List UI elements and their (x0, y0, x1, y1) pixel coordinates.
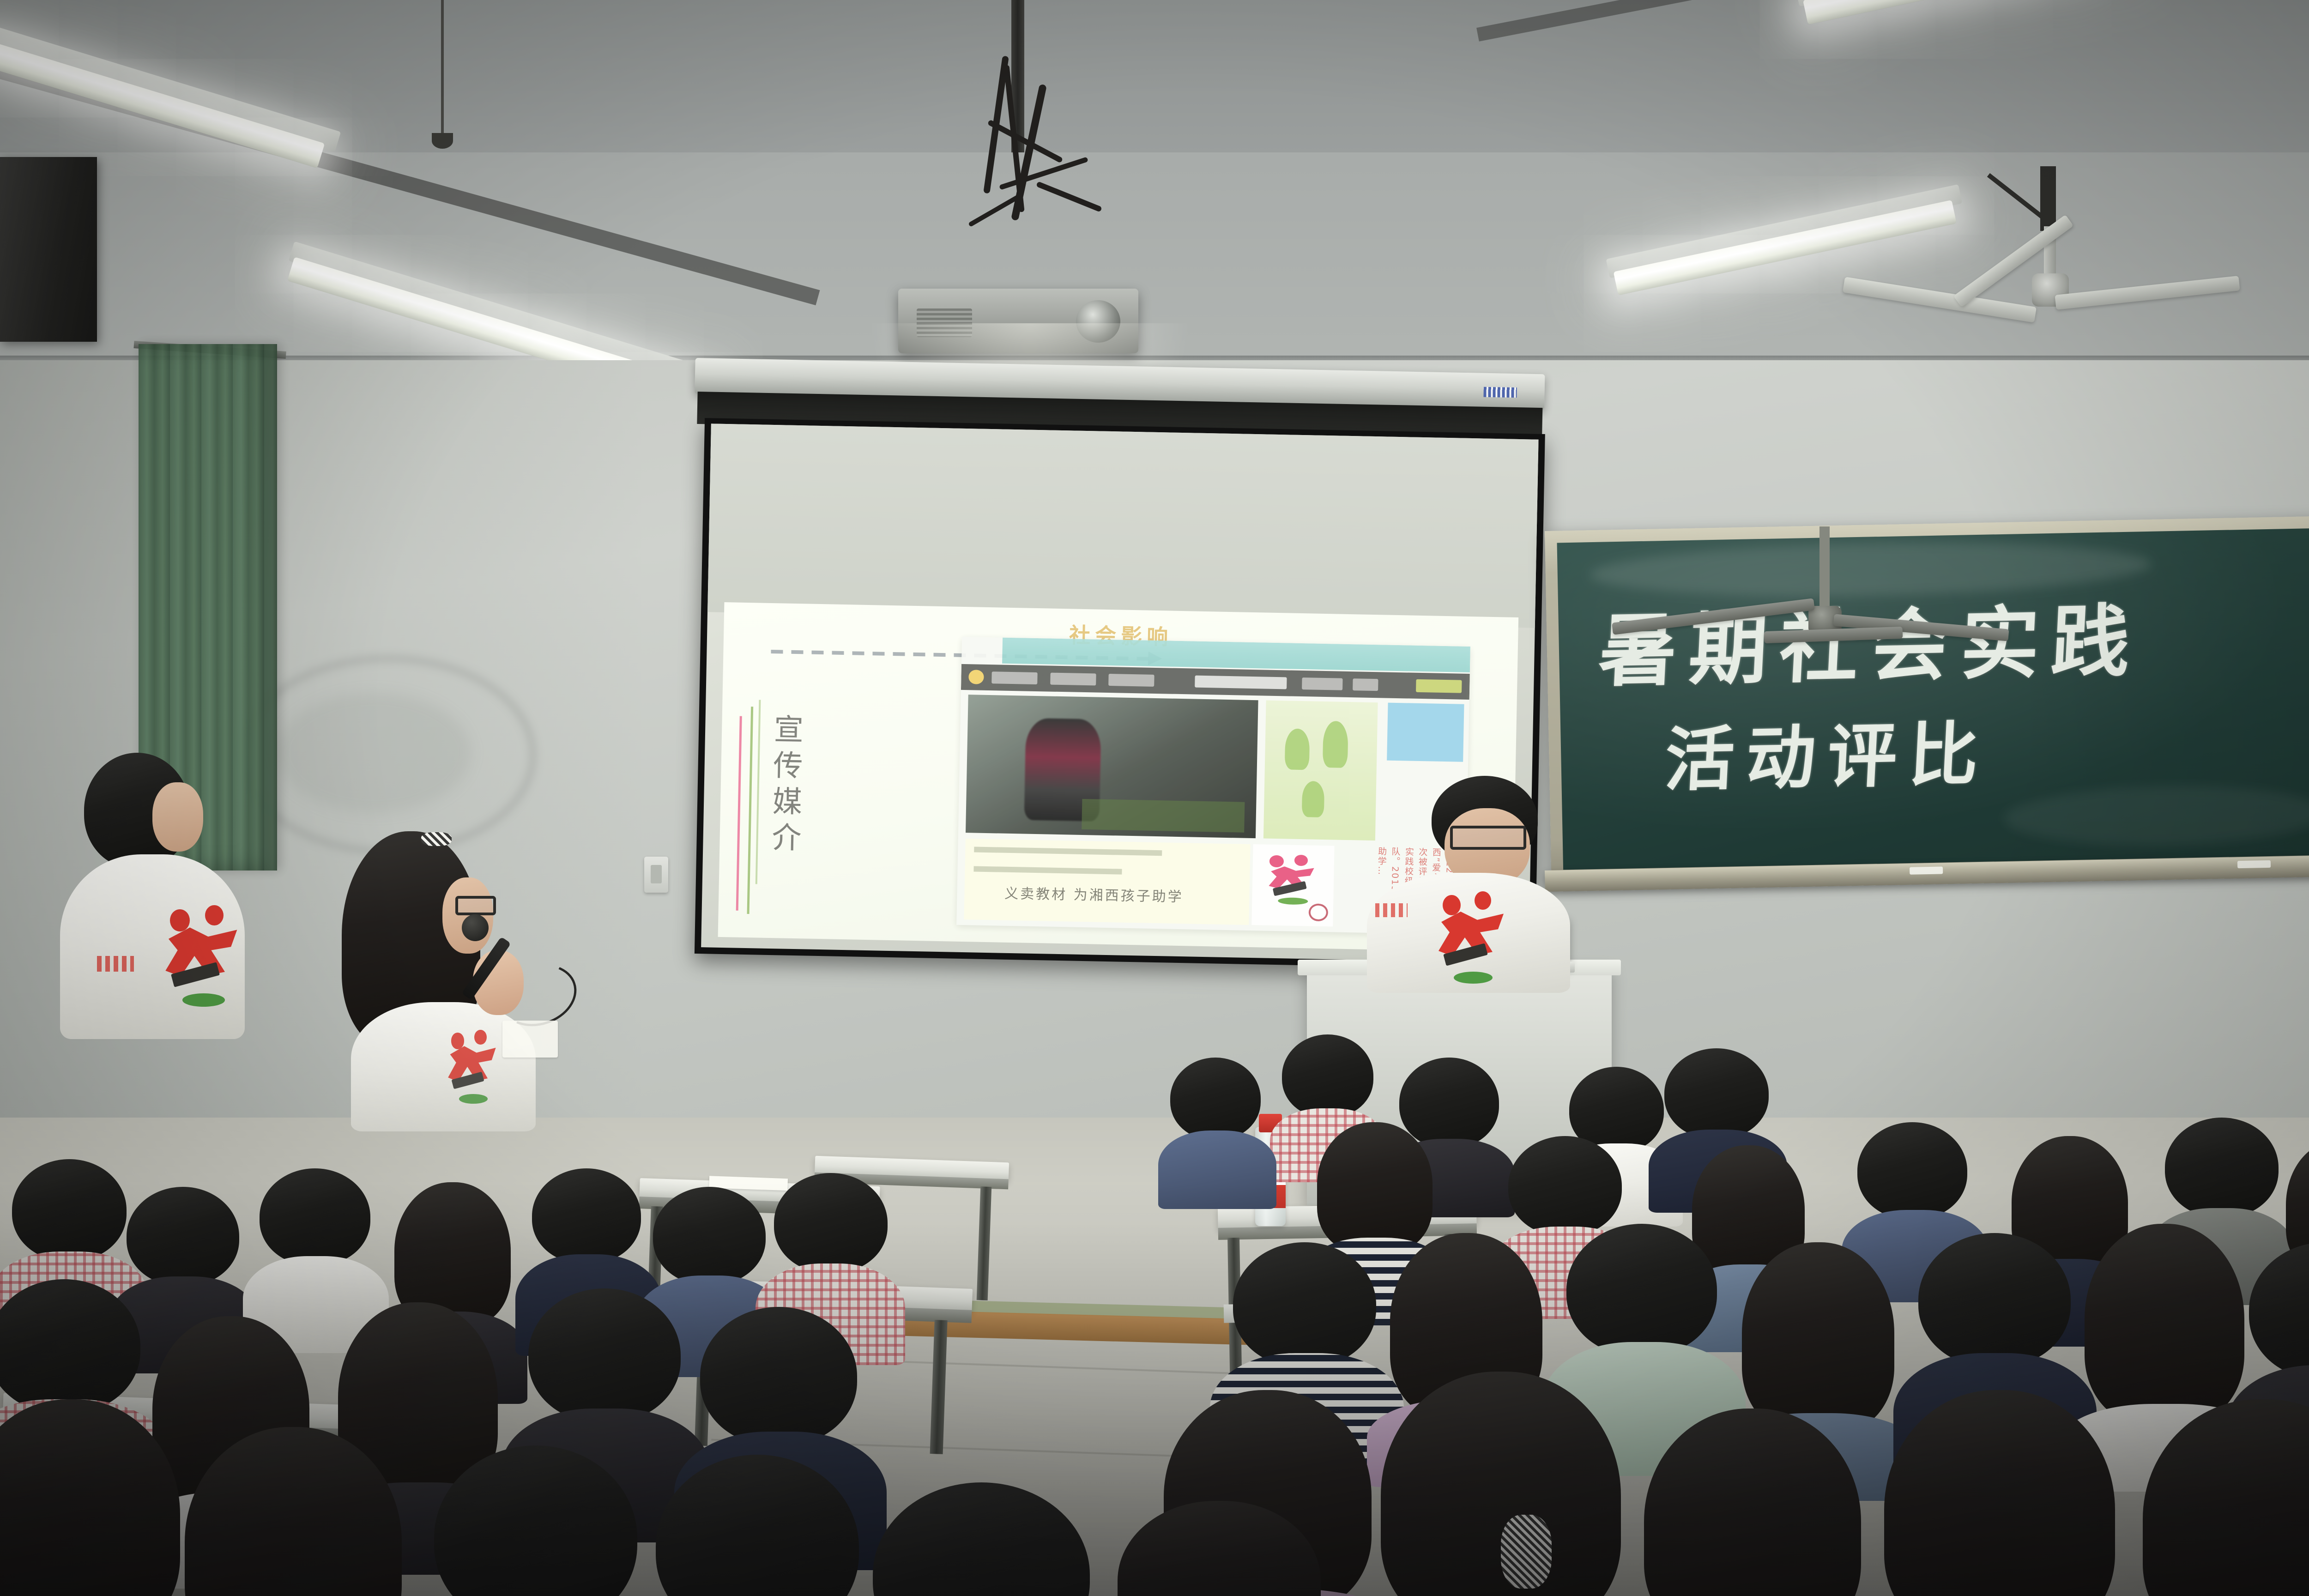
presenter-speaker-face (442, 877, 493, 954)
presenter-left-sleeve-print (97, 956, 134, 972)
audience-member (416, 1445, 656, 1596)
audience-member (854, 1482, 1113, 1596)
audience-member (1362, 1372, 1649, 1596)
classroom-scene: 社会影响 宣传媒介 (0, 0, 2309, 1596)
running-figure-logo-icon (1266, 854, 1319, 905)
eyeglasses-icon (1450, 826, 1526, 850)
star-icon (969, 670, 985, 684)
nav-item-5 (1353, 678, 1378, 691)
hair-clip (421, 832, 452, 846)
ceiling-hook-knob (432, 133, 453, 149)
slide-accent-line-green-1 (747, 707, 753, 914)
projector-vent (917, 308, 972, 337)
audience-member (637, 1455, 877, 1596)
wall-stain-inner (277, 693, 471, 813)
chalk-piece-1[interactable] (1910, 866, 1943, 874)
nav-item-4 (1302, 677, 1343, 690)
screen-brand-badge (1483, 387, 1517, 398)
side-figure-3 (1302, 781, 1325, 818)
nav-item-3 (1108, 674, 1154, 687)
article-subline-2 (973, 866, 1122, 875)
blackboard-text-line-2: 活动评比 (1663, 698, 1993, 804)
ceiling-hook (441, 0, 444, 139)
eyeglasses-icon (455, 896, 496, 915)
electrical-outlet[interactable] (644, 857, 668, 893)
microphone-head-icon (462, 914, 489, 941)
nav-item-2 (1050, 672, 1096, 685)
photo-caption-overlay (1082, 799, 1245, 833)
audience-member (166, 1427, 425, 1596)
side-figure-1 (1285, 728, 1310, 770)
webpage-search-input (1195, 675, 1287, 689)
presenter-podium-sleeve-print (1375, 903, 1408, 917)
team-logo-icon (1437, 891, 1506, 984)
slide-accent-line-pink (736, 716, 742, 911)
webpage-blue-panel (1387, 702, 1464, 762)
wall-speaker-box (0, 157, 97, 342)
side-figure-2 (1323, 721, 1348, 768)
webpage-login-button (1416, 679, 1462, 693)
nav-item-1 (991, 671, 1038, 684)
audience-member (1626, 1409, 1884, 1596)
audience-member (1866, 1390, 2143, 1596)
presenter-podium (1362, 776, 1575, 993)
audience-member (1164, 1058, 1270, 1196)
chalk-piece-2[interactable] (2237, 860, 2271, 868)
projector-cables (979, 55, 1081, 249)
webpage-side-panel (1263, 700, 1378, 840)
slide-accent-line-green-2 (756, 700, 761, 884)
presenter-left-face (152, 782, 203, 852)
webpage-hero-photo (966, 695, 1258, 839)
audience-member (2124, 1399, 2309, 1596)
webpage-logo-box (1251, 844, 1334, 926)
slide-vertical-label: 宣传媒介 (762, 713, 808, 858)
ceiling-slab (0, 0, 2309, 152)
official-seal-icon (1308, 903, 1328, 921)
webpage-article-block: 义卖教材 为湘西孩子助学 (964, 839, 1251, 925)
audience-member (1099, 1501, 1339, 1596)
projector-lens (1076, 300, 1120, 343)
ceiling-fan-left[interactable] (1681, 526, 1967, 683)
webpage-headline: 义卖教材 为湘西孩子助学 (1004, 882, 1184, 906)
hair-clip (1501, 1515, 1552, 1589)
audience (0, 984, 2309, 1596)
ceiling-fan-right[interactable] (1916, 166, 2194, 360)
article-subline-1 (974, 847, 1162, 856)
screen-blank-area (707, 423, 1539, 628)
